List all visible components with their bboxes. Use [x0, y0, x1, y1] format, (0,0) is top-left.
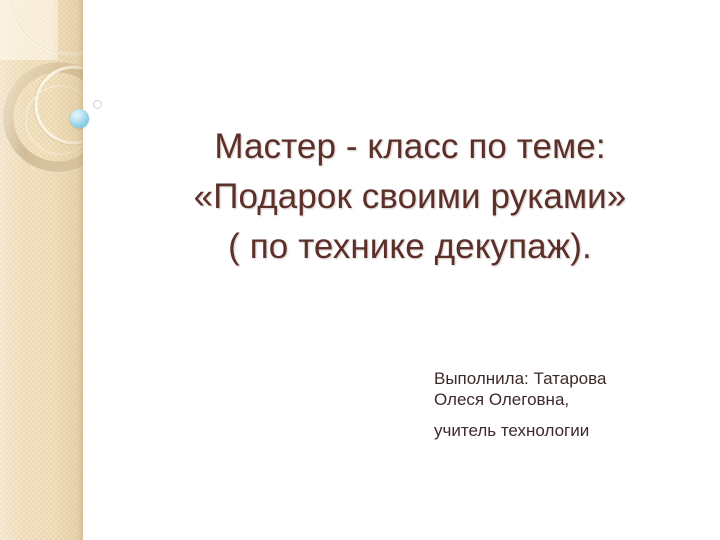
author-line-1: Выполнила: Татарова	[434, 368, 694, 389]
role-paragraph: учитель технологии	[434, 420, 694, 441]
blue-bubble-icon	[70, 109, 89, 128]
role-line-1: учитель технологии	[434, 420, 694, 441]
title-line-2: «Подарок своими руками»	[118, 172, 702, 222]
top-left-light-block	[0, 0, 58, 60]
slide-title: Мастер - класс по теме: «Подарок своими …	[118, 122, 702, 272]
slide-subtitle: Выполнила: Татарова Олеся Олеговна, учит…	[434, 368, 694, 441]
decorative-band	[0, 0, 83, 540]
presentation-slide: Мастер - класс по теме: «Подарок своими …	[0, 0, 720, 540]
title-line-1: Мастер - класс по теме:	[118, 122, 702, 172]
small-bubble-outline-icon	[93, 100, 102, 109]
title-line-3: ( по технике декупаж).	[118, 222, 702, 272]
author-paragraph: Выполнила: Татарова Олеся Олеговна,	[434, 368, 694, 410]
author-line-2: Олеся Олеговна,	[434, 389, 694, 410]
